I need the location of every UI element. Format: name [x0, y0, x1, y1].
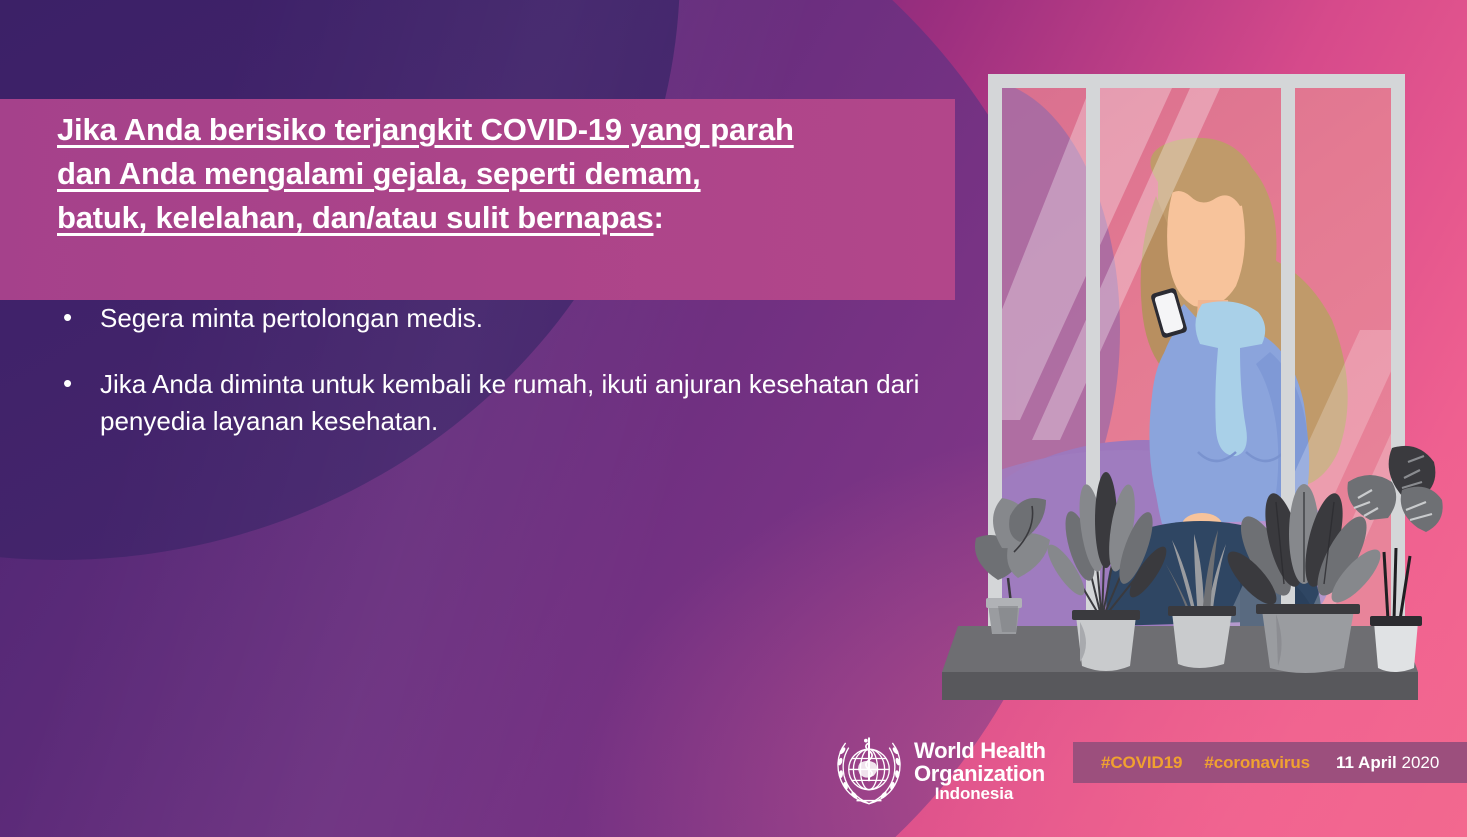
hashtag-covid19[interactable]: #COVID19 — [1101, 753, 1182, 773]
bullet-text: Segera minta pertolongan medis. — [100, 300, 935, 338]
headline-line-1: Jika Anda berisiko terjangkit COVID-19 y… — [57, 112, 794, 147]
date-year: 2020 — [1402, 753, 1440, 772]
who-org-line-1: World Health — [914, 740, 1046, 762]
who-country-label: Indonesia — [914, 785, 1034, 802]
headline-line-3: batuk, kelelahan, dan/atau sulit bernapa… — [57, 200, 653, 235]
illustration-woman-on-phone — [940, 0, 1467, 740]
who-emblem-icon — [830, 732, 908, 810]
hashtag-coronavirus[interactable]: #coronavirus — [1204, 753, 1310, 773]
who-wordmark: World Health Organization Indonesia — [914, 740, 1046, 802]
bullet-text: Jika Anda diminta untuk kembali ke rumah… — [100, 366, 935, 441]
date-day: 11 April — [1336, 753, 1397, 772]
bullet-marker-icon: • — [55, 300, 100, 336]
headline-line-2: dan Anda mengalami gejala, seperti demam… — [57, 156, 701, 191]
list-item: • Jika Anda diminta untuk kembali ke rum… — [55, 366, 935, 441]
bullet-list: • Segera minta pertolongan medis. • Jika… — [55, 300, 935, 469]
poster-canvas: Jika Anda berisiko terjangkit COVID-19 y… — [0, 0, 1467, 837]
publication-date: 11 April 2020 — [1336, 753, 1439, 773]
who-logo: World Health Organization Indonesia — [830, 732, 1046, 810]
list-item: • Segera minta pertolongan medis. — [55, 300, 935, 338]
bullet-marker-icon: • — [55, 366, 100, 402]
who-org-line-2: Organization — [914, 763, 1046, 785]
page-title: Jika Anda berisiko terjangkit COVID-19 y… — [57, 108, 957, 240]
hashtag-date-bar: #COVID19 #coronavirus 11 April 2020 — [1073, 742, 1467, 783]
headline-colon: : — [653, 200, 663, 235]
